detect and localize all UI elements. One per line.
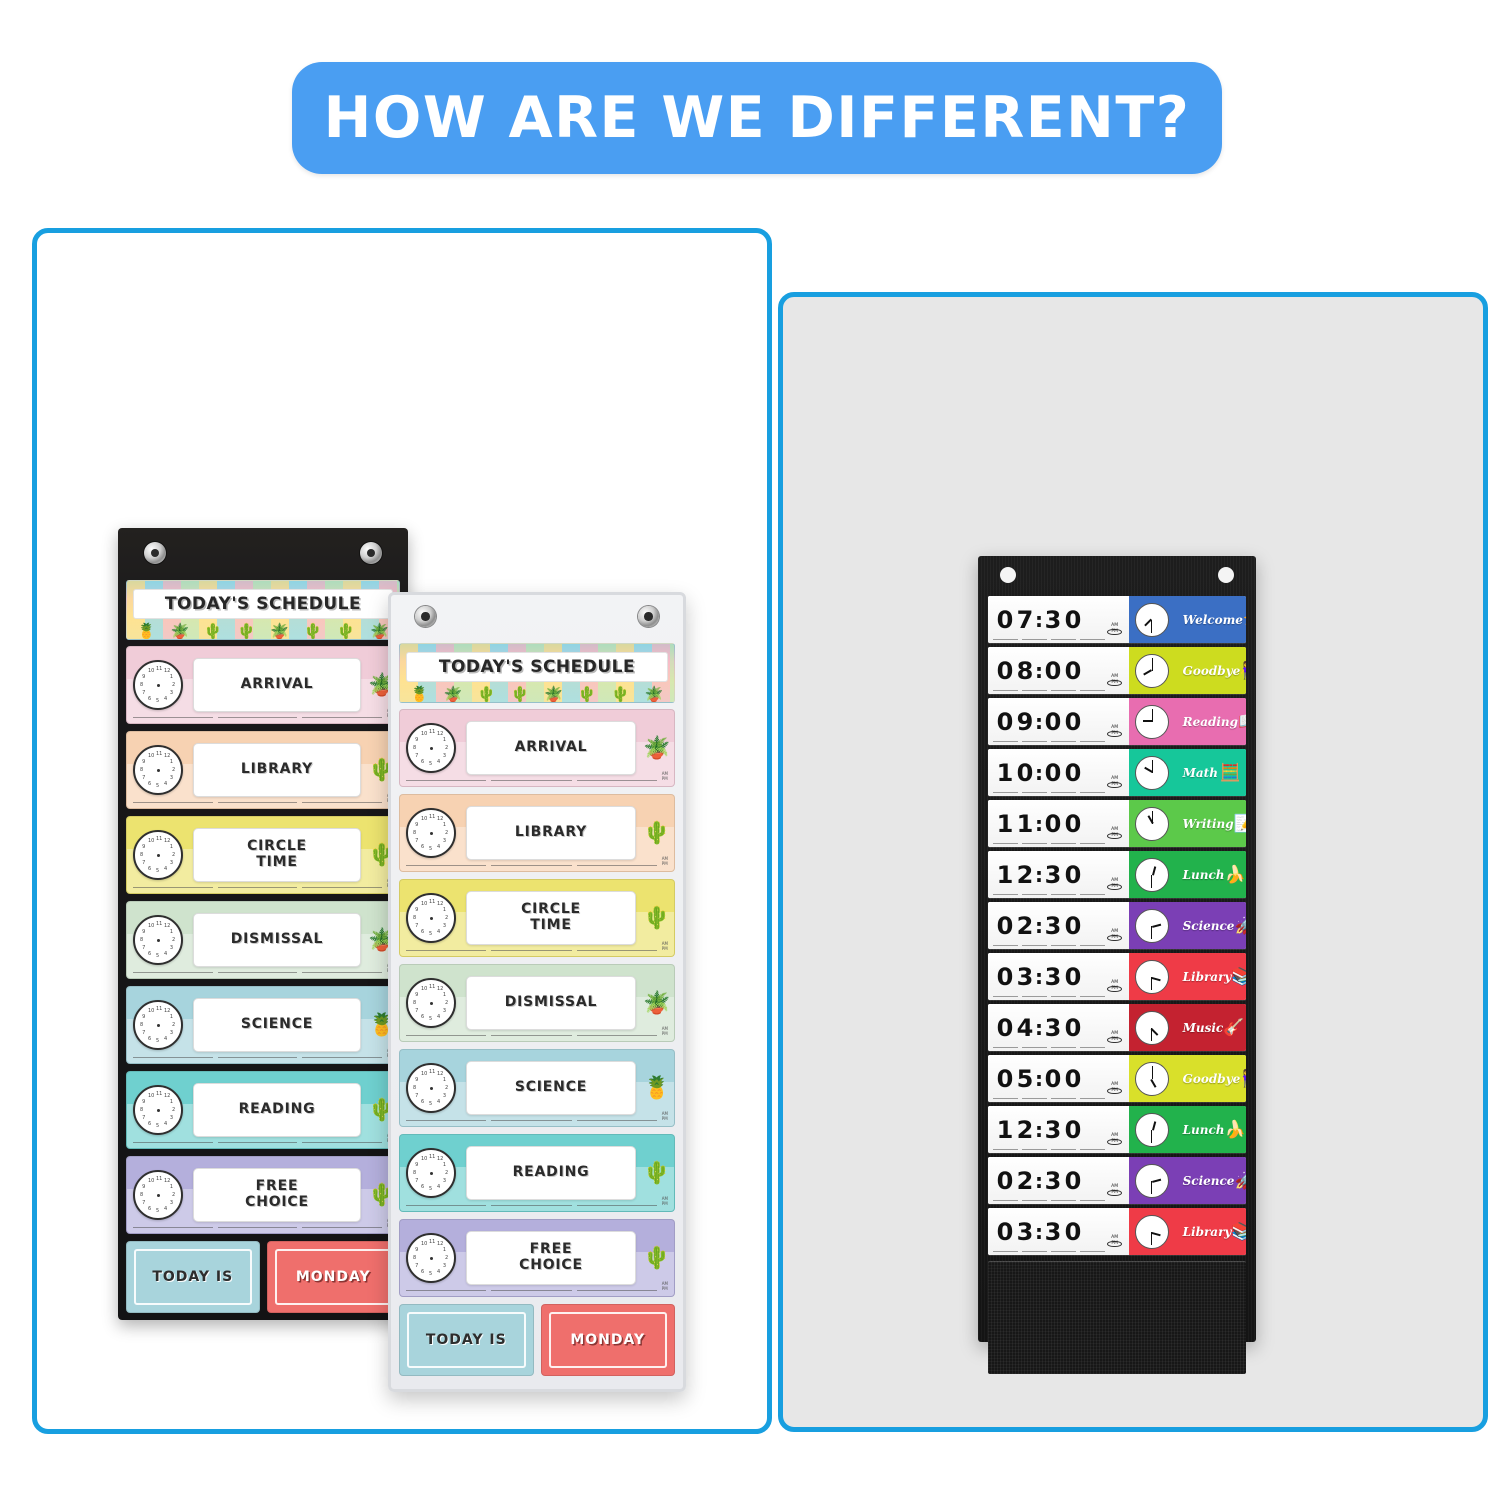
write-line xyxy=(1022,842,1047,844)
activity-icon: 👫 xyxy=(1240,662,1246,679)
am-pm-selector[interactable]: AMPM xyxy=(1105,1234,1124,1249)
activity-icon: 📖 xyxy=(1238,713,1246,730)
write-line xyxy=(302,971,382,973)
cactus-icon: 🌵 xyxy=(578,687,597,702)
activity-label-text: FREECHOICE xyxy=(519,1242,583,1273)
write-line xyxy=(993,995,1018,997)
activity-label-card[interactable]: Library📚 xyxy=(1176,1208,1246,1255)
today-is-card[interactable]: TODAY IS xyxy=(126,1241,260,1313)
write-on-lines xyxy=(993,689,1105,691)
clock-area xyxy=(1129,1157,1175,1204)
clock-hour-hand xyxy=(1151,1079,1157,1088)
write-line xyxy=(1051,689,1076,691)
time-digit: 0 xyxy=(1015,761,1035,785)
schedule-card-stack: TODAY'S SCHEDULE🍍🪴🌵🌵🪴🌵🌵🪴121234567891011A… xyxy=(391,643,683,1376)
write-line xyxy=(993,893,1018,895)
am-pm-selector[interactable]: AMPM xyxy=(1105,724,1124,739)
write-on-lines xyxy=(993,1046,1105,1048)
clock-hour-hand xyxy=(1152,977,1161,981)
pm-label: PM xyxy=(1107,1037,1122,1044)
time-digit: 0 xyxy=(1063,761,1083,785)
clock-face: 121234567891011 xyxy=(406,1063,456,1113)
time-digit-card[interactable]: 04:30AMPM xyxy=(988,1004,1129,1051)
write-line xyxy=(218,971,298,973)
day-name-card-text: MONDAY xyxy=(296,1269,371,1285)
activity-label-card[interactable]: FREECHOICE xyxy=(193,1168,361,1222)
time-digit: 0 xyxy=(995,710,1015,734)
am-pm-selector[interactable]: AMPM xyxy=(1105,928,1124,943)
clock-face: 121234567891011 xyxy=(133,745,183,795)
activity-label-card[interactable]: Goodbye👫 xyxy=(1176,1055,1246,1102)
activity-label-card[interactable]: Science🚀 xyxy=(1176,1157,1246,1204)
activity-icon: 🚀 xyxy=(1234,1172,1246,1189)
activity-label-card[interactable]: Music🎸 xyxy=(1176,1004,1246,1051)
am-label: AM xyxy=(1111,1134,1118,1139)
activity-icon: 📚 xyxy=(1231,1223,1246,1240)
write-line xyxy=(406,1119,486,1121)
pm-label: PM xyxy=(1107,884,1122,891)
plant-icon: 🍍 xyxy=(640,1075,674,1101)
day-name-card-text: MONDAY xyxy=(570,1332,645,1348)
time-colon: : xyxy=(1035,1016,1043,1040)
time-digit: 0 xyxy=(1063,863,1083,887)
time-digit-card[interactable]: 03:30AMPM xyxy=(988,1208,1129,1255)
schedule-card[interactable]: 121234567891011ARRIVAL🪴AMPM xyxy=(399,709,675,787)
schedule-card[interactable]: 121234567891011DISMISSAL🪴AMPM xyxy=(399,964,675,1042)
time-digit: 1 xyxy=(995,761,1015,785)
activity-label-text: Science xyxy=(1183,919,1235,933)
clock-face xyxy=(1135,705,1169,739)
schedule-card[interactable]: 121234567891011LIBRARY🌵AMPM xyxy=(126,731,400,809)
am-pm-label: AMPM xyxy=(662,1027,668,1036)
write-line xyxy=(218,716,298,718)
schedule-card[interactable]: 121234567891011FREECHOICE🌵AMPM xyxy=(126,1156,400,1234)
write-line xyxy=(1022,893,1047,895)
clock-area: 121234567891011 xyxy=(127,660,189,710)
activity-label-card[interactable]: Science🚀 xyxy=(1176,902,1246,949)
time-colon: : xyxy=(1035,812,1043,836)
write-line xyxy=(1022,1097,1047,1099)
cactus-decoration: 🍍🪴🌵🌵🪴🌵🌵🪴 xyxy=(400,682,674,702)
write-line xyxy=(302,716,382,718)
am-pm-selector[interactable]: AMPM xyxy=(1105,1030,1124,1045)
clock-face xyxy=(1135,807,1169,841)
write-on-lines xyxy=(993,791,1105,793)
clock-face xyxy=(1135,1113,1169,1147)
clock-area: 121234567891011 xyxy=(127,1170,189,1220)
write-line xyxy=(302,886,382,888)
time-digit: 3 xyxy=(1043,1220,1063,1244)
competitor-schedule-row[interactable]: 07:30AMPMWelcome☀️ xyxy=(988,596,1246,643)
competitor-schedule-row[interactable]: 02:30AMPMScience🚀 xyxy=(988,1157,1246,1204)
title-card-text: TODAY'S SCHEDULE xyxy=(140,594,386,614)
activity-icon: 🚀 xyxy=(1234,917,1246,934)
am-pm-selector[interactable]: AMPM xyxy=(1105,979,1124,994)
time-digit: 0 xyxy=(995,965,1015,989)
time-digit: 0 xyxy=(995,1016,1015,1040)
cactus-icon: 🌵 xyxy=(477,687,496,702)
am-pm-selector[interactable]: AMPM xyxy=(1105,877,1124,892)
day-name-card[interactable]: MONDAY xyxy=(541,1304,676,1376)
clock-minute-hand xyxy=(1152,811,1153,824)
write-line xyxy=(1051,1250,1076,1252)
cactus-icon: 🍍 xyxy=(137,624,156,639)
time-colon: : xyxy=(1035,761,1043,785)
time-digit: 0 xyxy=(1063,608,1083,632)
clock-minute-hand xyxy=(1152,709,1153,722)
clock-minute-hand xyxy=(1152,658,1153,671)
grommet-icon xyxy=(638,606,659,627)
time-digit: 9 xyxy=(1015,710,1035,734)
schedule-card[interactable]: 121234567891011SCIENCE🍍AMPM xyxy=(399,1049,675,1127)
activity-label-card[interactable]: CIRCLETIME xyxy=(466,891,636,945)
activity-label-card[interactable]: ARRIVAL xyxy=(466,721,636,775)
time-digit: 3 xyxy=(1043,608,1063,632)
clock-face: 121234567891011 xyxy=(406,808,456,858)
clock-area xyxy=(1129,1208,1175,1255)
write-on-lines: AMPM xyxy=(406,941,668,951)
grommet-icon xyxy=(144,542,166,564)
time-digit: 2 xyxy=(1015,1118,1035,1142)
write-line xyxy=(1022,689,1047,691)
clock-face xyxy=(1135,960,1169,994)
clock-face: 121234567891011 xyxy=(406,1233,456,1283)
activity-label-card[interactable]: DISMISSAL xyxy=(193,913,361,967)
write-line xyxy=(1022,1199,1047,1201)
pm-label: PM xyxy=(1107,833,1122,840)
clock-area xyxy=(1129,902,1175,949)
clock-face: 121234567891011 xyxy=(133,1085,183,1135)
write-on-lines xyxy=(993,893,1105,895)
write-on-lines xyxy=(993,1097,1105,1099)
today-is-card[interactable]: TODAY IS xyxy=(399,1304,534,1376)
write-line xyxy=(1080,1148,1105,1150)
write-line xyxy=(1051,995,1076,997)
activity-label-text: SCIENCE xyxy=(515,1080,587,1096)
write-on-lines: AMPM xyxy=(406,1111,668,1121)
time-digit: 3 xyxy=(1015,965,1035,989)
write-line xyxy=(491,949,571,951)
time-digit: 0 xyxy=(1063,1016,1083,1040)
clock-hour-hand xyxy=(1152,1121,1156,1130)
time-digit-card[interactable]: 08:00AMPM xyxy=(988,647,1129,694)
write-line xyxy=(1080,791,1105,793)
activity-icon: 📚 xyxy=(1231,968,1246,985)
activity-label-text: CIRCLETIME xyxy=(247,839,307,870)
clock-area xyxy=(1129,953,1175,1000)
time-digit: 2 xyxy=(1015,1169,1035,1193)
competitor-pocket-chart: 07:30AMPMWelcome☀️08:00AMPMGoodbye👫09:00… xyxy=(978,556,1256,1342)
clock-face xyxy=(1135,1215,1169,1249)
time-digit: 0 xyxy=(995,1067,1015,1091)
plant-icon: 🌵 xyxy=(640,905,674,931)
chart-top-bar xyxy=(978,556,1256,596)
time-digit-card[interactable]: 12:30AMPM xyxy=(988,851,1129,898)
schedule-card[interactable]: 121234567891011FREECHOICE🌵AMPM xyxy=(399,1219,675,1297)
activity-label-text: LIBRARY xyxy=(241,762,313,778)
write-line xyxy=(1080,638,1105,640)
time-digit: 8 xyxy=(1015,659,1035,683)
activity-label-text: Music xyxy=(1183,1021,1224,1035)
write-line xyxy=(218,886,298,888)
schedule-card[interactable]: 121234567891011READING🌵AMPM xyxy=(126,1071,400,1149)
pm-label: PM xyxy=(1107,680,1122,687)
activity-label-card[interactable]: READING xyxy=(466,1146,636,1200)
write-line xyxy=(406,1034,486,1036)
time-digit-card[interactable]: 11:00AMPM xyxy=(988,800,1129,847)
time-digit-card[interactable]: 02:30AMPM xyxy=(988,1157,1129,1204)
time-digit: 0 xyxy=(995,608,1015,632)
activity-label-card[interactable]: SCIENCE xyxy=(193,998,361,1052)
schedule-card[interactable]: 121234567891011LIBRARY🌵AMPM xyxy=(399,794,675,872)
competitor-schedule-row[interactable]: 02:30AMPMScience🚀 xyxy=(988,902,1246,949)
clock-face xyxy=(1135,1062,1169,1096)
write-line xyxy=(302,801,382,803)
am-label: AM xyxy=(1111,981,1118,986)
am-pm-selector[interactable]: AMPM xyxy=(1105,622,1124,637)
write-line xyxy=(406,779,486,781)
activity-label-text: Library xyxy=(1183,1225,1232,1239)
write-line xyxy=(133,801,213,803)
time-digit: 7 xyxy=(1015,608,1035,632)
cactus-icon: 🪴 xyxy=(444,687,463,702)
clock-area: 121234567891011 xyxy=(127,830,189,880)
activity-label-card[interactable]: Library📚 xyxy=(1176,953,1246,1000)
clock-hour-hand xyxy=(1152,866,1156,875)
activity-label-card[interactable]: Lunch🍌 xyxy=(1176,1106,1246,1153)
competitor-schedule-row[interactable]: 03:30AMPMLibrary📚 xyxy=(988,1208,1246,1255)
write-line xyxy=(993,791,1018,793)
clock-hour-hand xyxy=(1152,1178,1161,1182)
activity-label-card[interactable]: SCIENCE xyxy=(466,1061,636,1115)
am-pm-selector[interactable]: AMPM xyxy=(1105,775,1124,790)
write-line xyxy=(133,886,213,888)
activity-icon: 🍌 xyxy=(1225,866,1246,883)
clock-area xyxy=(1129,596,1175,643)
clock-face xyxy=(1135,1164,1169,1198)
competitor-schedule-row[interactable]: 11:00AMPMWriting📝 xyxy=(988,800,1246,847)
time-digit: 0 xyxy=(1043,812,1063,836)
activity-label-text: Library xyxy=(1183,970,1232,984)
activity-label-text: DISMISSAL xyxy=(505,995,598,1011)
activity-label-card[interactable]: ARRIVAL xyxy=(193,658,361,712)
time-digit-card[interactable]: 07:30AMPM xyxy=(988,596,1129,643)
storage-pocket xyxy=(988,1261,1246,1374)
clock-face xyxy=(1135,756,1169,790)
am-pm-label: AMPM xyxy=(662,772,668,781)
competitor-schedule-row[interactable]: 08:00AMPMGoodbye👫 xyxy=(988,647,1246,694)
write-on-lines: AMPM xyxy=(406,1281,668,1291)
write-line xyxy=(1080,995,1105,997)
competitor-schedule-row[interactable]: 09:00AMPMReading📖 xyxy=(988,698,1246,745)
time-digit: 0 xyxy=(995,659,1015,683)
activity-label-text: READING xyxy=(239,1102,316,1118)
clock-face: 121234567891011 xyxy=(133,1000,183,1050)
competitor-schedule-row[interactable]: 04:30AMPMMusic🎸 xyxy=(988,1004,1246,1051)
write-line xyxy=(1022,740,1047,742)
activity-label-card[interactable]: Goodbye👫 xyxy=(1176,647,1246,694)
write-line xyxy=(1080,740,1105,742)
write-line xyxy=(993,842,1018,844)
activity-label-card[interactable]: Welcome☀️ xyxy=(1176,596,1246,643)
write-on-lines: AMPM xyxy=(406,856,668,866)
banner-title: HOW ARE WE DIFFERENT? xyxy=(324,85,1191,151)
activity-label-card[interactable]: Reading📖 xyxy=(1176,698,1246,745)
am-label: AM xyxy=(1111,726,1118,731)
clock-area xyxy=(1129,749,1175,796)
am-label: AM xyxy=(1111,1032,1118,1037)
competitor-schedule-row[interactable]: 03:30AMPMLibrary📚 xyxy=(988,953,1246,1000)
activity-label-card[interactable]: Writing📝 xyxy=(1176,800,1246,847)
activity-label-text: Goodbye xyxy=(1183,1072,1241,1086)
title-banner: HOW ARE WE DIFFERENT? xyxy=(292,62,1222,174)
activity-label-card[interactable]: READING xyxy=(193,1083,361,1137)
competitor-schedule-row[interactable]: 12:30AMPMLunch🍌 xyxy=(988,1106,1246,1153)
am-pm-selector[interactable]: AMPM xyxy=(1105,1183,1124,1198)
clock-area: 121234567891011 xyxy=(400,1063,462,1113)
am-pm-selector[interactable]: AMPM xyxy=(1105,826,1124,841)
write-on-lines xyxy=(993,842,1105,844)
pm-label: PM xyxy=(1107,1088,1122,1095)
write-line xyxy=(406,1204,486,1206)
write-line xyxy=(1051,842,1076,844)
clock-minute-hand xyxy=(1151,875,1152,888)
schedule-card[interactable]: 121234567891011READING🌵AMPM xyxy=(399,1134,675,1212)
title-card: TODAY'S SCHEDULE🍍🪴🌵🌵🪴🌵🌵🪴 xyxy=(126,580,400,640)
cactus-icon: 🪴 xyxy=(270,624,289,639)
time-digit: 3 xyxy=(1043,1016,1063,1040)
clock-area: 121234567891011 xyxy=(400,1148,462,1198)
activity-label-card[interactable]: LIBRARY xyxy=(193,743,361,797)
plant-icon: 🌵 xyxy=(640,1160,674,1186)
am-pm-label: AMPM xyxy=(662,1282,668,1291)
write-line xyxy=(1022,791,1047,793)
time-digit-card[interactable]: 09:00AMPM xyxy=(988,698,1129,745)
activity-label-card[interactable]: Lunch🍌 xyxy=(1176,851,1246,898)
grommet-icon xyxy=(1218,567,1234,583)
time-digit: 0 xyxy=(1063,1220,1083,1244)
write-line xyxy=(1080,1199,1105,1201)
write-line xyxy=(993,1250,1018,1252)
time-colon: : xyxy=(1035,1067,1043,1091)
schedule-card[interactable]: 121234567891011SCIENCE🍍AMPM xyxy=(126,986,400,1064)
write-on-lines xyxy=(993,638,1105,640)
clock-area xyxy=(1129,1004,1175,1051)
write-on-lines: AMPM xyxy=(406,1196,668,1206)
clock-face: 121234567891011 xyxy=(406,978,456,1028)
time-digit: 0 xyxy=(1063,710,1083,734)
clock-area: 121234567891011 xyxy=(127,915,189,965)
clock-area xyxy=(1129,698,1175,745)
write-on-lines: AMPM xyxy=(133,963,393,973)
write-line xyxy=(1051,1148,1076,1150)
clock-hour-hand xyxy=(1152,923,1161,927)
competitor-schedule-row[interactable]: 05:00AMPMGoodbye👫 xyxy=(988,1055,1246,1102)
write-line xyxy=(133,1226,213,1228)
clock-minute-hand xyxy=(1151,1130,1152,1143)
cactus-icon: 🌵 xyxy=(304,624,323,639)
activity-label-card[interactable]: CIRCLETIME xyxy=(193,828,361,882)
activity-label-card[interactable]: FREECHOICE xyxy=(466,1231,636,1285)
competitor-schedule-row[interactable]: 10:00AMPMMath🧮 xyxy=(988,749,1246,796)
write-line xyxy=(993,1199,1018,1201)
clock-area xyxy=(1129,647,1175,694)
write-line xyxy=(1022,1046,1047,1048)
write-on-lines: AMPM xyxy=(133,1218,393,1228)
time-digit: 0 xyxy=(1043,761,1063,785)
activity-label-text: DISMISSAL xyxy=(231,932,324,948)
write-on-lines: AMPM xyxy=(133,1048,393,1058)
time-colon: : xyxy=(1035,710,1043,734)
write-line xyxy=(993,1148,1018,1150)
competitor-schedule-row[interactable]: 12:30AMPMLunch🍌 xyxy=(988,851,1246,898)
chart-top-bar xyxy=(118,528,408,580)
schedule-card[interactable]: 121234567891011CIRCLETIME🌵AMPM xyxy=(126,816,400,894)
plant-icon: 🌵 xyxy=(640,820,674,846)
am-pm-selector[interactable]: AMPM xyxy=(1105,1081,1124,1096)
time-colon: : xyxy=(1035,965,1043,989)
write-on-lines xyxy=(993,995,1105,997)
am-label: AM xyxy=(1111,624,1118,629)
write-on-lines: AMPM xyxy=(133,793,393,803)
activity-label-text: SCIENCE xyxy=(241,1017,313,1033)
am-pm-selector[interactable]: AMPM xyxy=(1105,673,1124,688)
clock-area xyxy=(1129,800,1175,847)
write-on-lines xyxy=(993,1148,1105,1150)
write-line xyxy=(302,1056,382,1058)
title-card: TODAY'S SCHEDULE🍍🪴🌵🌵🪴🌵🌵🪴 xyxy=(399,643,675,703)
time-digit-card[interactable]: 10:00AMPM xyxy=(988,749,1129,796)
time-digit-card[interactable]: 05:00AMPM xyxy=(988,1055,1129,1102)
pm-label: PM xyxy=(1107,1139,1122,1146)
write-line xyxy=(1022,638,1047,640)
time-digit: 3 xyxy=(1043,1118,1063,1142)
bottom-card-row: TODAY ISMONDAY xyxy=(399,1304,675,1376)
activity-icon: 📝 xyxy=(1234,815,1246,832)
write-on-lines xyxy=(993,740,1105,742)
schedule-card[interactable]: 121234567891011ARRIVAL🪴AMPM xyxy=(126,646,400,724)
time-colon: : xyxy=(1035,1118,1043,1142)
pm-label: PM xyxy=(1107,986,1122,993)
time-digit: 1 xyxy=(995,812,1015,836)
write-line xyxy=(1080,689,1105,691)
pm-label: PM xyxy=(1107,1190,1122,1197)
write-on-lines xyxy=(993,1199,1105,1201)
write-line xyxy=(1051,638,1076,640)
time-digit: 4 xyxy=(1015,1016,1035,1040)
today-is-card-text: TODAY IS xyxy=(152,1269,233,1285)
clock-face xyxy=(1135,603,1169,637)
schedule-card[interactable]: 121234567891011DISMISSAL🪴AMPM xyxy=(126,901,400,979)
activity-label-text: READING xyxy=(513,1165,590,1181)
day-name-card[interactable]: MONDAY xyxy=(267,1241,401,1313)
grommet-icon xyxy=(360,542,382,564)
activity-label-card[interactable]: DISMISSAL xyxy=(466,976,636,1030)
write-line xyxy=(577,1204,657,1206)
schedule-card[interactable]: 121234567891011CIRCLETIME🌵AMPM xyxy=(399,879,675,957)
time-digit-card[interactable]: 12:30AMPM xyxy=(988,1106,1129,1153)
time-digit-card[interactable]: 02:30AMPM xyxy=(988,902,1129,949)
cactus-icon: 🍍 xyxy=(410,687,429,702)
am-pm-selector[interactable]: AMPM xyxy=(1105,1132,1124,1147)
write-line xyxy=(993,638,1018,640)
activity-label-card[interactable]: LIBRARY xyxy=(466,806,636,860)
pm-label: PM xyxy=(1107,629,1122,636)
clock-area: 121234567891011 xyxy=(400,978,462,1028)
time-digit-card[interactable]: 03:30AMPM xyxy=(988,953,1129,1000)
activity-label-card[interactable]: Math🧮 xyxy=(1176,749,1246,796)
our-pocket-chart-black: TODAY'S SCHEDULE🍍🪴🌵🌵🪴🌵🌵🪴121234567891011A… xyxy=(118,528,408,1320)
